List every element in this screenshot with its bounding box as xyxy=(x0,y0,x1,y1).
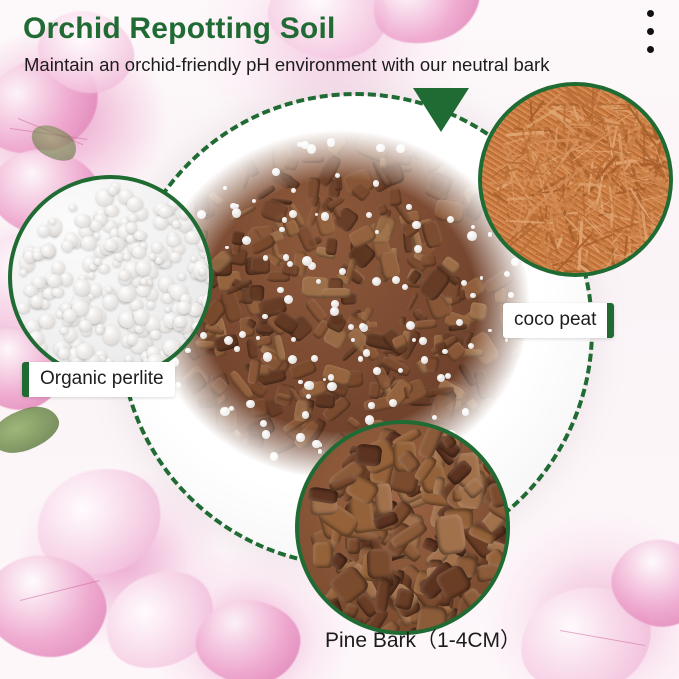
perlite-granule xyxy=(52,287,64,297)
perlite-granule xyxy=(33,251,41,260)
perlite-granule xyxy=(20,269,28,276)
corner-dot xyxy=(647,46,654,53)
perlite-granule xyxy=(24,285,38,296)
perlite-granule xyxy=(29,331,45,346)
perlite-granule xyxy=(150,330,160,338)
perlite-granule xyxy=(39,314,54,329)
perlite-granule xyxy=(163,339,180,356)
perlite-granule xyxy=(103,294,118,310)
pine-bark-chip xyxy=(434,513,467,556)
callout-pine-bark xyxy=(295,420,510,635)
pine-bark-chip xyxy=(346,537,360,553)
perlite-granule xyxy=(38,225,50,237)
perlite-granule xyxy=(134,231,146,241)
perlite-granule xyxy=(154,216,168,230)
down-arrow-marker xyxy=(413,88,469,132)
pine-bark-chip xyxy=(367,549,393,580)
perlite-granule xyxy=(185,231,200,243)
page-title: Orchid Repotting Soil xyxy=(23,12,336,46)
coco-fiber xyxy=(554,235,567,238)
perlite-granule xyxy=(103,325,120,345)
perlite-granule xyxy=(119,270,130,279)
perlite-granule xyxy=(47,274,62,287)
perlite-granule xyxy=(81,236,97,250)
perlite-granule xyxy=(108,186,118,195)
pine-bark-chip xyxy=(490,470,503,484)
perlite-granule xyxy=(60,272,73,286)
perlite-granule xyxy=(96,327,104,335)
perlite-granule xyxy=(49,218,56,224)
label-pine-bark: Pine Bark（1-4CM） xyxy=(325,630,521,651)
perlite-granule xyxy=(94,258,102,264)
perlite-granule xyxy=(106,286,112,292)
perlite-granule xyxy=(152,242,162,252)
label-organic-perlite: Organic perlite xyxy=(22,362,175,397)
product-image: Organic perlite coco peat Pine Bark（1-4C… xyxy=(0,0,679,679)
perlite-granule xyxy=(104,239,118,250)
corner-dot xyxy=(647,10,654,17)
perlite-granule xyxy=(90,220,102,231)
perlite-granule xyxy=(170,252,182,262)
perlite-granule xyxy=(63,309,77,322)
perlite-granule xyxy=(136,260,152,276)
callout-organic-perlite xyxy=(8,175,213,380)
perlite-granule xyxy=(132,246,147,258)
perlite-granule xyxy=(167,235,180,246)
perlite-granule xyxy=(180,209,190,219)
callout-coco-peat xyxy=(478,82,673,277)
corner-dots xyxy=(647,10,654,64)
coco-fiber xyxy=(494,208,499,218)
perlite-granule xyxy=(31,295,43,308)
pine-bark-chip xyxy=(354,443,383,467)
perlite-granule xyxy=(76,343,94,358)
perlite-granule xyxy=(88,272,95,280)
coco-fiber xyxy=(669,175,673,190)
perlite-granule xyxy=(41,245,55,257)
perlite-granule xyxy=(58,348,70,359)
perlite-granule xyxy=(127,334,138,344)
perlite-granule xyxy=(123,254,131,260)
pine-bark-chip xyxy=(452,490,462,503)
perlite-granule xyxy=(174,316,188,327)
perlite-granule xyxy=(52,261,65,274)
perlite-granule xyxy=(178,273,186,279)
perlite-granule xyxy=(177,301,191,314)
perlite-granule xyxy=(140,278,148,285)
perlite-granule xyxy=(74,279,89,296)
perlite-granule xyxy=(188,345,197,353)
perlite-granule xyxy=(17,303,29,313)
corner-dot xyxy=(647,28,654,35)
perlite-granule xyxy=(134,309,149,325)
coco-fiber xyxy=(625,262,652,265)
perlite-granule xyxy=(99,264,110,273)
perlite-granule xyxy=(69,204,77,211)
perlite-granule xyxy=(62,240,73,252)
perlite-granule xyxy=(147,301,155,309)
perlite-granule xyxy=(79,320,92,331)
page-subtitle: Maintain an orchid-friendly pH environme… xyxy=(24,54,549,76)
coco-fiber xyxy=(643,124,645,165)
perlite-granule xyxy=(105,205,118,216)
perlite-granule xyxy=(128,214,138,222)
label-coco-peat: coco peat xyxy=(503,303,614,338)
perlite-granule xyxy=(136,285,151,296)
